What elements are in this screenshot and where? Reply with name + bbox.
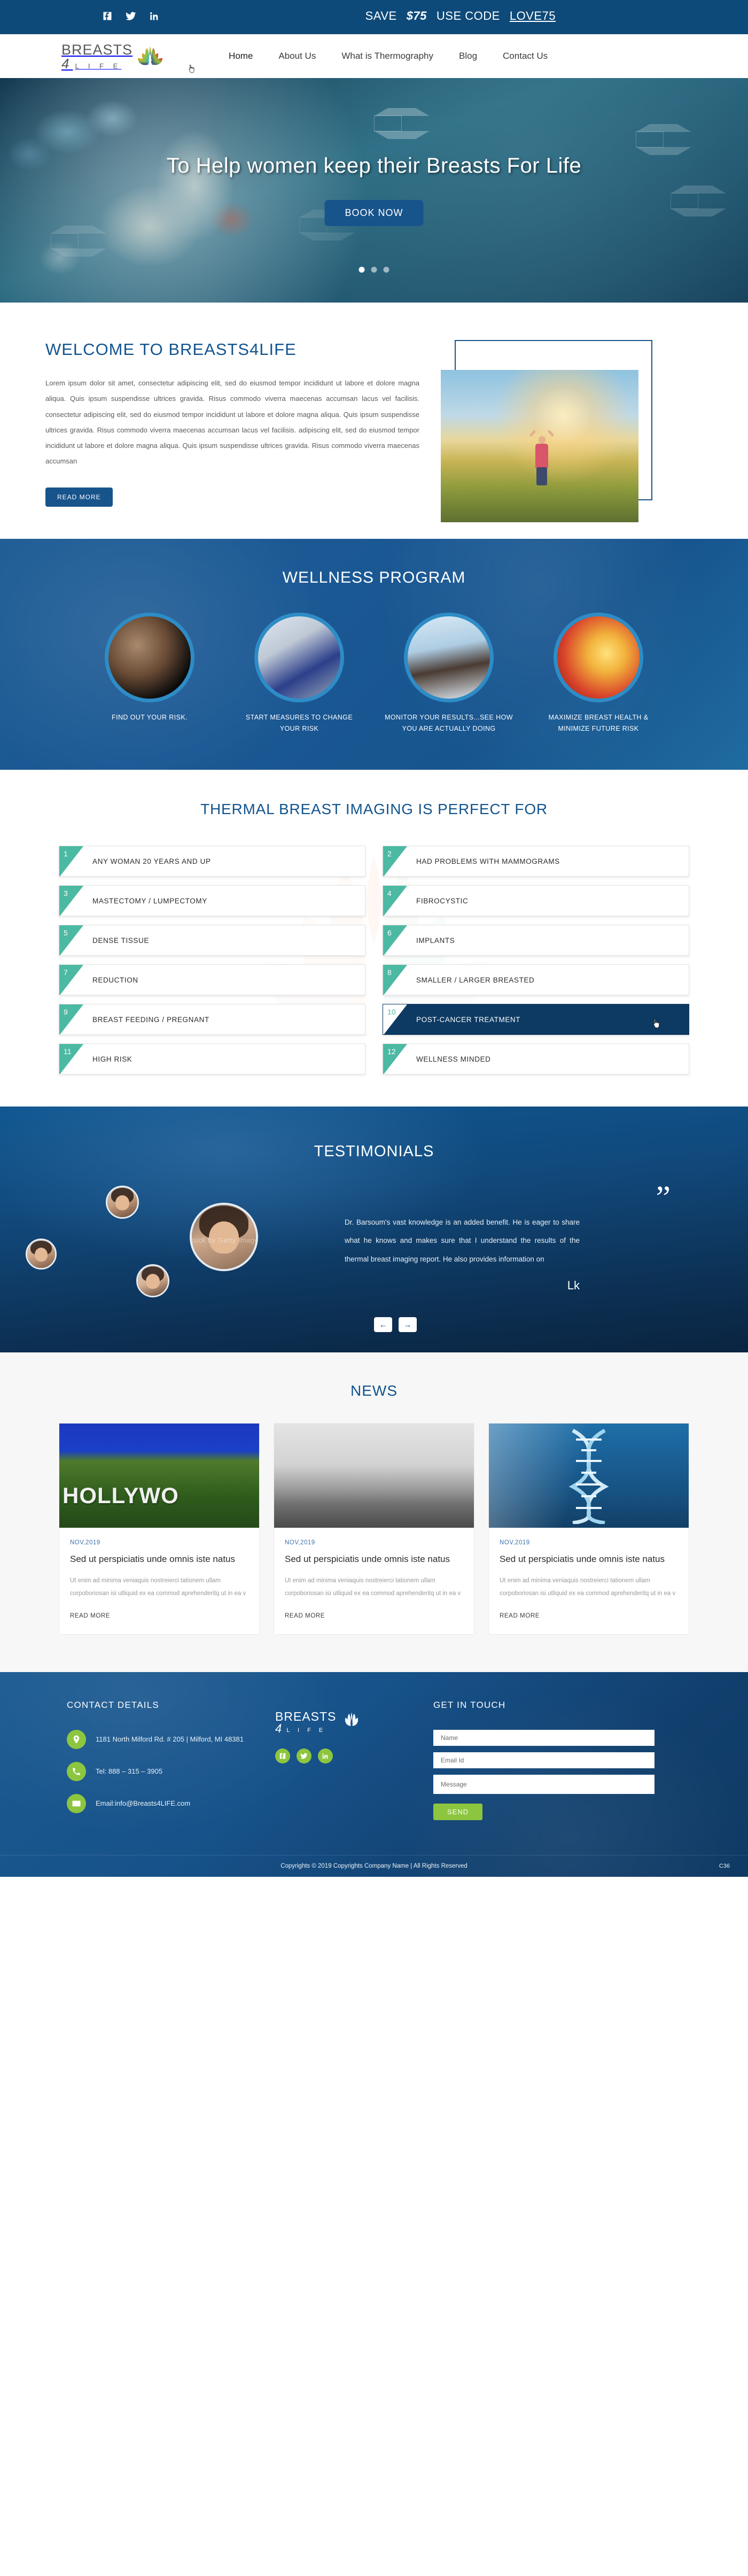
thermal-card[interactable]: 8 SMALLER / LARGER BREASTED — [383, 964, 689, 995]
linkedin-icon[interactable] — [149, 10, 160, 22]
card-label: POST-CANCER TREATMENT — [416, 1016, 520, 1024]
get-in-touch-heading: GET IN TOUCH — [433, 1700, 654, 1711]
carousel-dot-3[interactable] — [384, 267, 389, 273]
card-corner-icon — [59, 925, 83, 956]
copyright-bar: Copyrights © 2019 Copyrights Company Nam… — [0, 1855, 748, 1877]
news-card[interactable]: NOV,2019 Sed ut perspiciatis unde omnis … — [488, 1423, 689, 1635]
footer-logo[interactable]: BREASTS 4 L I F E — [275, 1709, 425, 1734]
testimonial-author: Lk — [345, 1279, 580, 1293]
thermal-card[interactable]: 5 DENSE TISSUE — [59, 925, 365, 956]
site-logo[interactable]: BREASTS 4 L I F E — [61, 43, 166, 69]
woman-in-field-photo — [441, 370, 638, 522]
hexagon-decoration-icon — [671, 193, 698, 209]
carousel-dot-2[interactable] — [371, 267, 377, 273]
thermal-card[interactable]: 7 REDUCTION — [59, 964, 365, 995]
lab-equipment-image — [254, 613, 344, 702]
card-number: 8 — [387, 968, 392, 977]
map-pin-icon — [67, 1730, 86, 1749]
thermal-card[interactable]: 6 IMPLANTS — [383, 925, 689, 956]
card-number: 2 — [387, 849, 392, 858]
news-excerpt: Ut enim ad minima veniaquis nostreierci … — [70, 1574, 248, 1600]
thermal-card[interactable]: 11 HIGH RISK — [59, 1043, 365, 1074]
logo-wordmark: BREASTS 4 L I F E — [61, 43, 133, 69]
promo-save-label: SAVE — [365, 9, 397, 23]
main-navigation: BREASTS 4 L I F E — [0, 34, 748, 78]
logo-life: L I F E — [75, 63, 121, 69]
copyright-text: Copyrights © 2019 Copyrights Company Nam… — [280, 1863, 467, 1869]
promo-banner: SAVE $75 USE CODE LOVE75 — [365, 9, 556, 23]
wellness-items: FIND OUT YOUR RISK. START MEASURES TO CH… — [0, 613, 748, 735]
card-number: 1 — [64, 849, 68, 858]
wellness-item-label: FIND OUT YOUR RISK. — [85, 712, 214, 723]
thermal-card[interactable]: 9 BREAST FEEDING / PREGNANT — [59, 1004, 365, 1035]
testimonial-quote-text: Dr. Barsoum's vast knowledge is an added… — [345, 1213, 580, 1268]
welcome-body-text: Lorem ipsum dolor sit amet, consectetur … — [45, 375, 419, 469]
footer-form-column: GET IN TOUCH SEND — [425, 1700, 654, 1826]
nav-item-blog[interactable]: Blog — [459, 51, 477, 61]
nav-item-home[interactable]: Home — [229, 51, 253, 61]
hexagon-decoration-icon — [51, 233, 79, 249]
news-headline: Sed ut perspiciatis unde omnis iste natu… — [285, 1553, 463, 1566]
news-card[interactable]: NOV,2019 Sed ut perspiciatis unde omnis … — [274, 1423, 474, 1635]
news-excerpt: Ut enim ad minima veniaquis nostreierci … — [500, 1574, 678, 1600]
hero-carousel-dots — [359, 267, 389, 273]
wellness-item-label: MONITOR YOUR RESULTS...SEE HOW YOU ARE A… — [385, 712, 513, 735]
dna-helix-image — [489, 1424, 689, 1528]
top-utility-bar: SAVE $75 USE CODE LOVE75 — [0, 0, 748, 32]
card-number: 4 — [387, 889, 392, 898]
promo-amount: $75 — [407, 9, 427, 23]
card-number: 3 — [64, 889, 68, 898]
hexagon-decoration-icon — [374, 115, 402, 131]
twitter-icon[interactable] — [297, 1749, 311, 1763]
thermal-card-active[interactable]: 10 POST-CANCER TREATMENT — [383, 1004, 689, 1035]
book-now-button[interactable]: BOOK NOW — [324, 200, 423, 226]
footer-logo-life: L I F E — [286, 1727, 326, 1734]
card-corner-icon — [383, 965, 407, 995]
lotus-logo-icon — [339, 1710, 364, 1733]
welcome-section: WELCOME TO BREASTS4LIFE Lorem ipsum dolo… — [0, 303, 748, 539]
card-label: SMALLER / LARGER BREASTED — [416, 976, 534, 984]
logo-line-2: 4 L I F E — [61, 58, 133, 69]
page-root: SAVE $75 USE CODE LOVE75 BREASTS 4 L I F… — [0, 0, 748, 1877]
wellness-item[interactable]: START MEASURES TO CHANGE YOUR RISK — [235, 613, 363, 735]
footer-logo-four: 4 — [275, 1724, 285, 1734]
wellness-item-label: MAXIMIZE BREAST HEALTH & MINIMIZE FUTURE… — [534, 712, 663, 735]
news-card-grid: HOLLYWO NOV,2019 Sed ut perspiciatis und… — [59, 1423, 689, 1635]
news-date: NOV,2019 — [70, 1540, 248, 1546]
card-corner-icon — [59, 886, 83, 916]
nav-item-what-is-thermography[interactable]: What is Thermography — [341, 51, 433, 61]
hexagon-decoration-icon — [636, 131, 664, 148]
avatar-main[interactable]: iStock by Getty Images — [190, 1203, 258, 1271]
card-label: HIGH RISK — [92, 1055, 132, 1063]
name-field[interactable] — [433, 1730, 654, 1746]
card-label: FIBROCYSTIC — [416, 897, 468, 905]
footer-social-links — [275, 1749, 425, 1763]
card-corner-icon — [383, 925, 407, 956]
news-date: NOV,2019 — [500, 1540, 678, 1546]
thermal-card[interactable]: 1 ANY WOMAN 20 YEARS AND UP — [59, 846, 365, 877]
thermal-card[interactable]: 4 FIBROCYSTIC — [383, 885, 689, 916]
grayscale-landscape-image — [274, 1424, 474, 1528]
cells-microscope-image — [105, 613, 194, 702]
site-footer: CONTACT DETAILS 1181 North Milford Rd. #… — [0, 1672, 748, 1877]
contact-address-row: 1181 North Milford Rd. # 205 | Milford, … — [67, 1730, 275, 1749]
doctor-writing-image — [404, 613, 494, 702]
card-label: WELLNESS MINDED — [416, 1055, 491, 1063]
card-label: DENSE TISSUE — [92, 937, 149, 945]
card-corner-icon — [59, 965, 83, 995]
card-number: 9 — [64, 1008, 68, 1016]
facebook-icon[interactable] — [275, 1749, 290, 1763]
news-read-more-link[interactable]: READ MORE — [500, 1613, 540, 1619]
card-number: 12 — [387, 1047, 396, 1056]
news-section: NEWS HOLLYWO NOV,2019 Sed ut perspiciati… — [0, 1352, 748, 1672]
card-corner-icon — [59, 846, 83, 877]
card-label: MASTECTOMY / LUMPECTOMY — [92, 897, 207, 905]
news-read-more-link[interactable]: READ MORE — [285, 1613, 325, 1619]
card-corner-icon — [383, 846, 407, 877]
news-headline: Sed ut perspiciatis unde omnis iste natu… — [70, 1553, 248, 1566]
nav-item-about-us[interactable]: About Us — [278, 51, 316, 61]
contact-email-row: Email:info@Breasts4LIFE.com — [67, 1794, 275, 1813]
card-number: 7 — [64, 968, 68, 977]
promo-code[interactable]: LOVE75 — [510, 9, 556, 23]
news-date: NOV,2019 — [285, 1540, 463, 1546]
envelope-icon — [67, 1794, 86, 1813]
wellness-program-section: WELLNESS PROGRAM FIND OUT YOUR RISK. STA… — [0, 539, 748, 770]
send-button[interactable]: SEND — [433, 1804, 482, 1820]
card-label: IMPLANTS — [416, 937, 455, 945]
testimonial-nav: ← → — [374, 1317, 417, 1332]
thermal-imaging-section: THERMAL BREAST IMAGING IS PERFECT FOR 1 … — [0, 770, 748, 1107]
avatar[interactable] — [136, 1264, 169, 1297]
contact-phone[interactable]: Tel: 888 – 315 – 3905 — [96, 1765, 162, 1778]
nav-menu: Home About Us What is Thermography Blog … — [229, 51, 548, 61]
wellness-title: WELLNESS PROGRAM — [0, 569, 748, 587]
thermal-title: THERMAL BREAST IMAGING IS PERFECT FOR — [0, 801, 748, 818]
card-label: HAD PROBLEMS WITH MAMMOGRAMS — [416, 857, 560, 865]
card-number: 6 — [387, 929, 392, 937]
promo-use-code-label: USE CODE — [437, 9, 500, 23]
thermal-card[interactable]: 2 HAD PROBLEMS WITH MAMMOGRAMS — [383, 846, 689, 877]
photo-subject — [528, 428, 556, 486]
footer-contact-column: CONTACT DETAILS 1181 North Milford Rd. #… — [45, 1700, 275, 1826]
welcome-title: WELCOME TO BREASTS4LIFE — [45, 340, 419, 359]
avatar[interactable] — [106, 1186, 139, 1219]
hollywood-sign-image: HOLLYWO — [59, 1424, 259, 1528]
carousel-dot-1[interactable] — [359, 267, 365, 273]
news-read-more-link[interactable]: READ MORE — [70, 1613, 110, 1619]
card-number: 5 — [64, 929, 68, 937]
top-social-links — [102, 10, 160, 22]
card-number: 10 — [387, 1008, 396, 1016]
contact-address: 1181 North Milford Rd. # 205 | Milford, … — [96, 1733, 244, 1746]
wellness-item[interactable]: MAXIMIZE BREAST HEALTH & MINIMIZE FUTURE… — [534, 613, 663, 735]
wellness-item[interactable]: FIND OUT YOUR RISK. — [85, 613, 214, 735]
lotus-logo-icon — [135, 44, 166, 68]
testimonials-section: TESTIMONIALS ” iStock by Getty Images Dr… — [0, 1107, 748, 1352]
image-watermark: iStock by Getty Images — [190, 1236, 258, 1244]
avatar[interactable] — [26, 1239, 57, 1270]
wellness-item-label: START MEASURES TO CHANGE YOUR RISK — [235, 712, 363, 735]
card-corner-icon — [383, 886, 407, 916]
news-excerpt: Ut enim ad minima veniaquis nostreierci … — [285, 1574, 463, 1600]
thermal-card-grid: 1 ANY WOMAN 20 YEARS AND UP 2 HAD PROBLE… — [59, 846, 689, 1074]
testimonial-next-button[interactable]: → — [399, 1317, 417, 1332]
twitter-icon[interactable] — [125, 10, 137, 22]
footer-brand-column: BREASTS 4 L I F E — [275, 1700, 425, 1826]
email-field[interactable] — [433, 1752, 654, 1768]
quote-mark-icon: ” — [656, 1181, 671, 1214]
news-card[interactable]: HOLLYWO NOV,2019 Sed ut perspiciatis und… — [59, 1423, 260, 1635]
linkedin-icon[interactable] — [318, 1749, 333, 1763]
hero-banner: To Help women keep their Breasts For Lif… — [0, 78, 748, 303]
corner-code: C36 — [719, 1863, 730, 1869]
message-field[interactable] — [433, 1775, 654, 1794]
mouse-cursor-icon — [188, 64, 196, 74]
testimonial-prev-button[interactable]: ← — [374, 1317, 392, 1332]
card-label: ANY WOMAN 20 YEARS AND UP — [92, 857, 211, 865]
facebook-icon[interactable] — [102, 10, 113, 22]
welcome-image-block — [441, 340, 654, 507]
logo-four: 4 — [61, 58, 73, 69]
welcome-read-more-button[interactable]: READ MORE — [45, 488, 113, 507]
news-image-caption: HOLLYWO — [63, 1483, 179, 1509]
card-label: REDUCTION — [92, 976, 138, 984]
logo-line-1: BREASTS — [61, 43, 133, 57]
footer-logo-line-2: 4 L I F E — [275, 1724, 336, 1734]
phone-icon — [67, 1762, 86, 1781]
wellness-item[interactable]: MONITOR YOUR RESULTS...SEE HOW YOU ARE A… — [385, 613, 513, 735]
thermal-card[interactable]: 3 MASTECTOMY / LUMPECTOMY — [59, 885, 365, 916]
card-corner-icon — [59, 1004, 83, 1035]
testimonials-title: TESTIMONIALS — [0, 1107, 748, 1161]
contact-phone-row: Tel: 888 – 315 – 3905 — [67, 1762, 275, 1781]
card-label: BREAST FEEDING / PREGNANT — [92, 1016, 209, 1024]
dna-helix-icon — [557, 1428, 621, 1524]
contact-email[interactable]: Email:info@Breasts4LIFE.com — [96, 1797, 190, 1811]
thermal-card[interactable]: 12 WELLNESS MINDED — [383, 1043, 689, 1074]
mouse-cursor-icon — [652, 1018, 661, 1029]
news-headline: Sed ut perspiciatis unde omnis iste natu… — [500, 1553, 678, 1566]
contact-details-heading: CONTACT DETAILS — [67, 1700, 275, 1711]
card-number: 11 — [64, 1047, 72, 1056]
hexagon-decoration-icon — [299, 217, 327, 233]
hero-title: To Help women keep their Breasts For Lif… — [0, 154, 748, 178]
nav-item-contact-us[interactable]: Contact Us — [503, 51, 548, 61]
news-title: NEWS — [0, 1382, 748, 1399]
healthy-food-image — [554, 613, 643, 702]
